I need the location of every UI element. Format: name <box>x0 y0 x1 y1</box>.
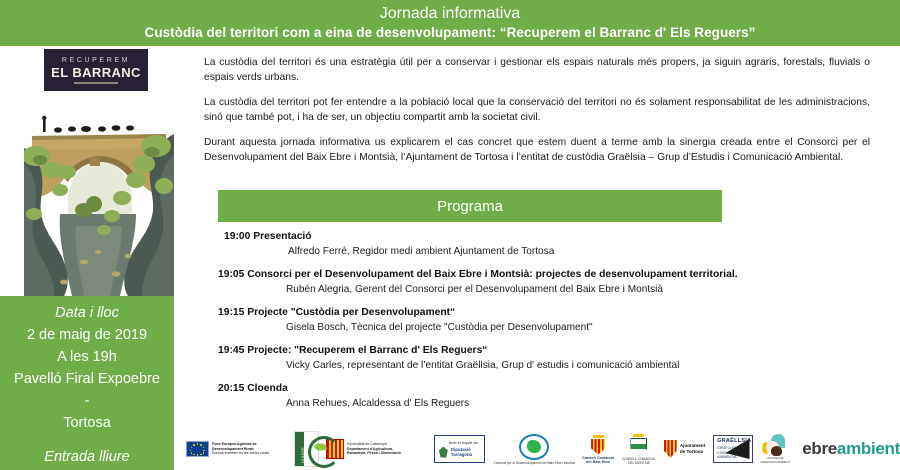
header-subtitle: Jornada informativa <box>380 5 521 23</box>
poster-brand-main: EL BARRANC <box>51 65 141 80</box>
montsia-shield-icon <box>630 438 647 456</box>
main-content: La custòdia del territori és una estratè… <box>204 56 870 177</box>
page-title: Custòdia del territori com a eina de des… <box>145 24 756 41</box>
consorci-circle-icon <box>519 434 549 460</box>
sponsor-logo-strip: Fons Europeu Agrícola de Desenvolupament… <box>186 428 900 470</box>
info-line-venue: Pavelló Firal Expoebre <box>0 368 174 390</box>
leader-sidebar: LEADER <box>295 432 304 466</box>
poster-brand-rule <box>74 82 118 84</box>
tortosa-caption: Ajuntament de Tortosa <box>680 443 705 454</box>
gencat-line2: Departament d'Agricultura, <box>347 447 393 451</box>
feader-line3: Europa inverteix en les zones rurals <box>212 451 269 455</box>
gencat-line1: Generalitat de Catalunya <box>347 442 387 446</box>
consell-comarcal-baix-ebre-logo: Consell Comarcal del Baix Ebre <box>582 435 614 464</box>
schedule-item-title: 19:45 Projecte: "Recuperem el Barranc d'… <box>218 344 878 358</box>
diputacio-tarragona-logo: Amb el suport de: Diputació Tarragona <box>434 435 485 463</box>
schedule-item-speaker: Anna Rehues, Alcaldessa d' Els Reguers <box>218 397 878 411</box>
diputacio-name: Diputació Tarragona <box>451 447 484 457</box>
schedule-item-speaker: Vicky Carles, representant de l’entitat … <box>218 359 878 373</box>
programa-schedule: 19:00 Presentació Alfredo Ferré, Regidor… <box>218 230 878 420</box>
schedule-item: 19:00 Presentació Alfredo Ferré, Regidor… <box>218 230 878 259</box>
graellsia-logo: GRAËLLSIA GRUP D'ESTUDIS I COMUNICACIÓ A… <box>713 435 752 463</box>
oficina-mark-icon <box>762 434 788 456</box>
consell-comarcal-montsia-logo: CONSELL COMARCAL DEL MONTSIÀ <box>622 434 656 465</box>
generalitat-logo: Generalitat de Catalunya Departament d'A… <box>326 439 427 459</box>
schedule-item-title: 19:15 Projecte "Custòdia per Desenvolupa… <box>218 306 878 320</box>
schedule-item-title: 19:05 Consorci per el Desenvolupament de… <box>218 268 878 282</box>
ebreambient-part1: ebre <box>802 439 837 459</box>
schedule-item: 19:05 Consorci per el Desenvolupament de… <box>218 268 878 297</box>
bridge-ravine-illustration <box>24 64 174 296</box>
consorci-leaf-icon <box>527 440 541 453</box>
ajuntament-tortosa-logo: Ajuntament de Tortosa <box>664 440 705 458</box>
oficina-caption: OFICINA DE DESENVOLUPAMENT <box>761 457 791 464</box>
ccbe-caption: Consell Comarcal del Baix Ebre <box>582 456 614 464</box>
diputacio-mark-icon <box>439 447 448 458</box>
tortosa-shield-icon <box>664 440 677 458</box>
baix-ebre-shield-icon <box>591 439 605 455</box>
eu-flag-icon <box>186 441 209 457</box>
crown-icon <box>633 434 644 437</box>
leader-swoosh-icon <box>308 436 340 468</box>
ccbe-line2: del Baix Ebre <box>586 460 610 464</box>
leader-logo: LEADER <box>294 431 319 467</box>
ccms-line2: DEL MONTSIÀ <box>628 461 650 465</box>
left-column: RECUPEREM EL BARRANC Data i lloc 2 de ma… <box>0 46 174 470</box>
body-paragraph-3: Durant aquesta jornada informativa us ex… <box>204 136 870 165</box>
body-paragraph-1: La custòdia del territori és una estratè… <box>204 56 870 85</box>
ebreambient-logo: ebreambient <box>802 439 900 459</box>
tortosa-line2: de Tortosa <box>680 449 703 454</box>
body-paragraph-2: La custòdia del territori pot fer entend… <box>204 96 870 125</box>
generalitat-caption: Generalitat de Catalunya Departament d'A… <box>347 442 427 455</box>
event-info-panel: Data i lloc 2 de maig de 2019 A les 19h … <box>0 296 174 470</box>
info-line-time: A les 19h <box>0 346 174 368</box>
schedule-item: 19:15 Projecte "Custòdia per Desenvolupa… <box>218 306 878 335</box>
info-line-data-i-lloc: Data i lloc <box>0 302 174 324</box>
oficina-desenvolupament-logo: OFICINA DE DESENVOLUPAMENT <box>761 434 791 464</box>
leader-sidebar-text: LEADER <box>301 447 305 463</box>
feader-line2: Desenvolupament Rural: <box>212 447 254 451</box>
feader-logo: Fons Europeu Agrícola de Desenvolupament… <box>186 441 290 457</box>
info-line-separator: - <box>0 390 174 412</box>
montsia-band <box>631 444 646 449</box>
event-poster: RECUPEREM EL BARRANC <box>24 46 174 296</box>
feader-line1: Fons Europeu Agrícola de <box>212 442 257 446</box>
tortosa-line1: Ajuntament <box>680 443 705 448</box>
schedule-item-speaker: Alfredo Ferré, Regidor medi ambient Ajun… <box>218 245 878 259</box>
info-line-city: Tortosa <box>0 412 174 434</box>
oficina-line2: DESENVOLUPAMENT <box>761 460 791 464</box>
schedule-item-title: 19:00 Presentació <box>218 230 878 244</box>
header-banner: Jornada informativa Custòdia del territo… <box>0 0 900 46</box>
programa-banner: Programa <box>218 190 722 222</box>
schedule-item: 19:45 Projecte: "Recuperem el Barranc d'… <box>218 344 878 373</box>
poster-brand-block: RECUPEREM EL BARRANC <box>44 49 148 91</box>
ccms-caption: CONSELL COMARCAL DEL MONTSIÀ <box>622 457 656 465</box>
consorci-baix-ebre-montsia-logo: Consorci per al Desenvolupament del Baix… <box>494 434 576 465</box>
programa-banner-label: Programa <box>437 198 503 215</box>
schedule-item-speaker: Gisela Bosch, Tècnica del projecte "Cust… <box>218 321 878 335</box>
ebreambient-part2: ambient <box>837 439 900 459</box>
person-body-icon <box>771 446 782 456</box>
consorci-caption: Consorci per al Desenvolupament del Baix… <box>494 461 576 465</box>
schedule-item: 20:15 Cloenda Anna Rehues, Alcaldessa d'… <box>218 382 878 411</box>
diputacio-support-label: Amb el suport de: <box>439 441 484 445</box>
feader-caption: Fons Europeu Agrícola de Desenvolupament… <box>212 442 290 455</box>
info-spacer <box>0 434 174 446</box>
crown-icon <box>593 435 604 438</box>
poster-brand-top: RECUPEREM <box>62 56 130 65</box>
gencat-line3: Ramaderia, Pesca i Alimentació <box>347 451 401 455</box>
schedule-item-title: 20:15 Cloenda <box>218 382 878 396</box>
info-line-date: 2 de maig de 2019 <box>0 324 174 346</box>
schedule-item-speaker: Rubén Alegria, Gerent del Consorci per e… <box>218 283 878 297</box>
info-line-free-entry: Entrada lliure <box>0 446 174 468</box>
